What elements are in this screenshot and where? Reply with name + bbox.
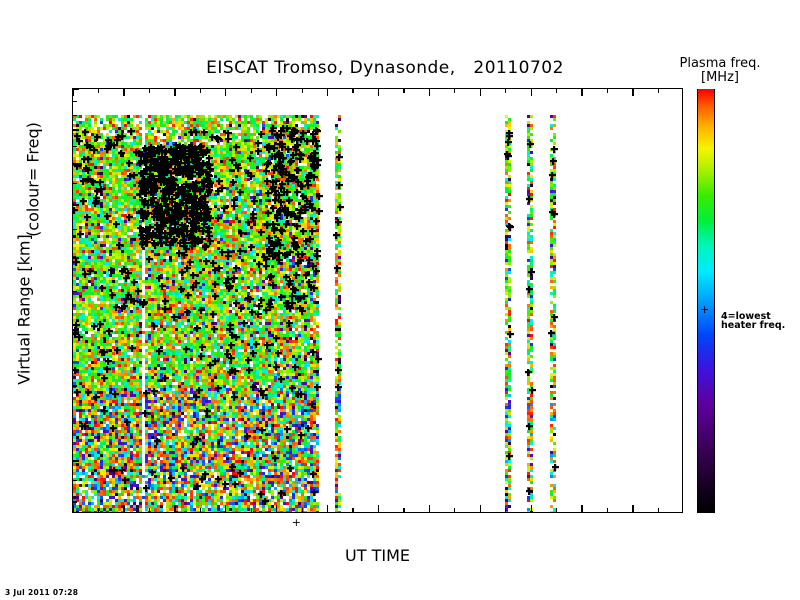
y-tick-major	[73, 204, 79, 205]
y-tick-major	[73, 163, 79, 164]
y-tick-major	[73, 129, 79, 130]
x-tick-minor-top	[403, 89, 404, 93]
x-tick-minor	[352, 508, 353, 512]
y-tick-major	[73, 257, 79, 258]
y-tick-minor	[73, 183, 77, 184]
x-tick-minor	[607, 508, 608, 512]
footer-timestamp: 3 Jul 2011 07:28	[5, 588, 78, 597]
y-tick-minor	[73, 146, 77, 147]
colorbar	[697, 89, 715, 513]
x-tick-major	[531, 505, 532, 512]
x-tick-minor	[98, 508, 99, 512]
inplot-plus-marker: +	[292, 517, 301, 528]
x-tick-major-top	[123, 89, 124, 96]
x-tick-minor-top	[505, 89, 506, 93]
x-tick-minor	[658, 508, 659, 512]
heatmap-data-layer	[73, 89, 682, 512]
x-tick-major-top	[225, 89, 226, 96]
x-tick-minor-top	[200, 89, 201, 93]
x-tick-major	[327, 505, 328, 512]
x-tick-minor	[251, 508, 252, 512]
x-tick-major	[225, 505, 226, 512]
y-tick-minor	[73, 480, 77, 481]
heater-freq-marker-icon: +	[700, 304, 709, 315]
x-tick-minor-top	[352, 89, 353, 93]
y-tick-major	[73, 332, 79, 333]
x-tick-major-top	[632, 89, 633, 96]
heater-freq-note: 4=lowest heater freq.	[721, 312, 785, 331]
x-tick-major-top	[378, 89, 379, 96]
x-tick-major	[378, 505, 379, 512]
x-tick-major-top	[429, 89, 430, 96]
ionogram-heatmap	[73, 89, 683, 513]
colorbar-gradient	[697, 89, 715, 513]
x-axis-title: UT TIME	[72, 546, 683, 565]
y-tick-minor	[73, 291, 77, 292]
x-tick-major-top	[480, 89, 481, 96]
x-tick-minor	[403, 508, 404, 512]
x-tick-minor-top	[556, 89, 557, 93]
x-tick-major-top	[581, 89, 582, 96]
y-tick-minor	[73, 101, 77, 102]
y-tick-minor	[73, 501, 77, 502]
x-tick-minor	[302, 508, 303, 512]
x-tick-major	[429, 505, 430, 512]
y-tick-minor	[73, 115, 77, 116]
x-tick-major-top	[531, 89, 532, 96]
x-tick-minor-top	[149, 89, 150, 93]
y-axis-subtitle: (colour= Freq)	[24, 15, 43, 345]
x-tick-minor	[505, 508, 506, 512]
y-tick-minor	[73, 385, 77, 386]
y-tick-major	[73, 88, 79, 89]
x-tick-major	[72, 505, 73, 512]
x-tick-minor-top	[98, 89, 99, 93]
x-tick-major	[480, 505, 481, 512]
y-tick-major	[73, 460, 79, 461]
x-tick-major-top	[174, 89, 175, 96]
x-tick-major	[632, 505, 633, 512]
x-tick-minor	[200, 508, 201, 512]
x-tick-minor-top	[251, 89, 252, 93]
x-tick-major-top	[327, 89, 328, 96]
x-tick-minor-top	[302, 89, 303, 93]
x-tick-major-top	[276, 89, 277, 96]
x-tick-major	[123, 505, 124, 512]
x-tick-minor	[556, 508, 557, 512]
x-tick-major	[174, 505, 175, 512]
figure-canvas: EISCAT Tromso, Dynasonde, 20110702 Virtu…	[0, 0, 800, 600]
x-tick-minor-top	[658, 89, 659, 93]
x-tick-major	[276, 505, 277, 512]
x-tick-minor	[149, 508, 150, 512]
colorbar-title: Plasma freq. [MHz]	[640, 57, 800, 85]
page-title: EISCAT Tromso, Dynasonde, 20110702	[175, 58, 595, 78]
x-tick-minor-top	[454, 89, 455, 93]
x-tick-minor-top	[607, 89, 608, 93]
x-tick-major-top	[72, 89, 73, 96]
x-tick-major	[581, 505, 582, 512]
x-tick-minor	[454, 508, 455, 512]
y-tick-minor	[73, 229, 77, 230]
plot-frame	[72, 88, 683, 513]
